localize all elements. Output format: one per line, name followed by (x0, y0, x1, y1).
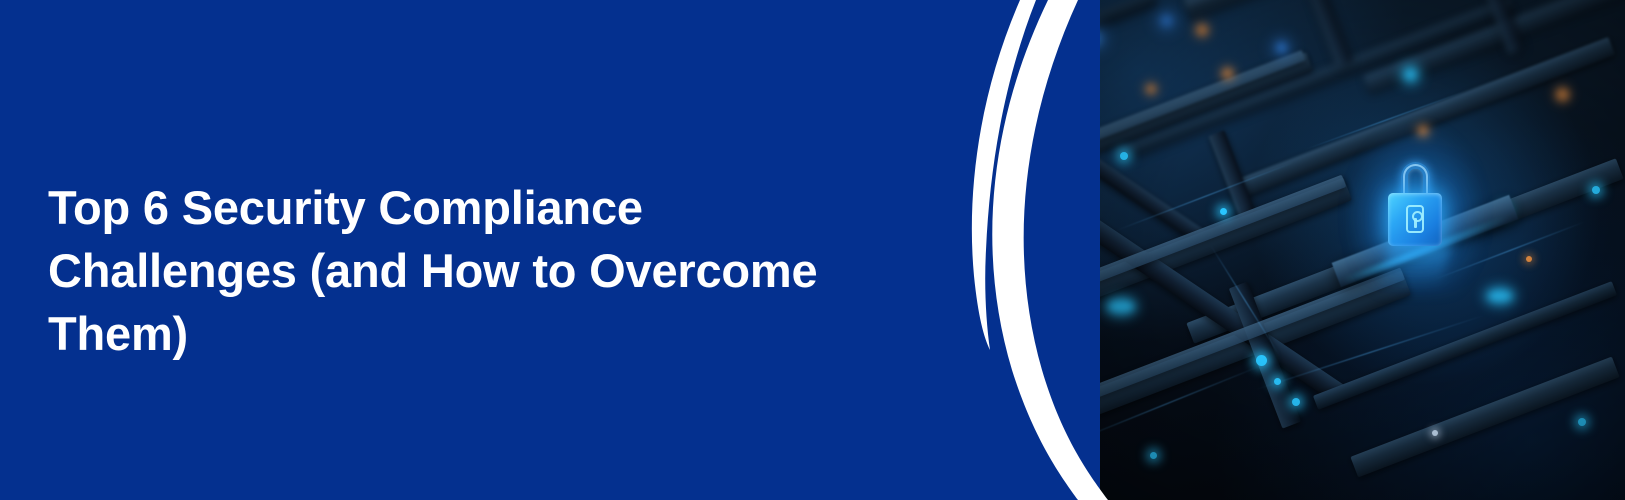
page-title: Top 6 Security Compliance Challenges (an… (48, 176, 928, 365)
padlock-shackle-highlight (1403, 164, 1428, 196)
padlock-icon (1388, 162, 1442, 246)
padlock-reflection (1378, 246, 1451, 286)
padlock-body (1388, 193, 1442, 246)
hero-banner: Top 6 Security Compliance Challenges (an… (0, 0, 1625, 500)
page-title-container: Top 6 Security Compliance Challenges (an… (48, 176, 928, 365)
keyhole-icon (1406, 205, 1424, 233)
